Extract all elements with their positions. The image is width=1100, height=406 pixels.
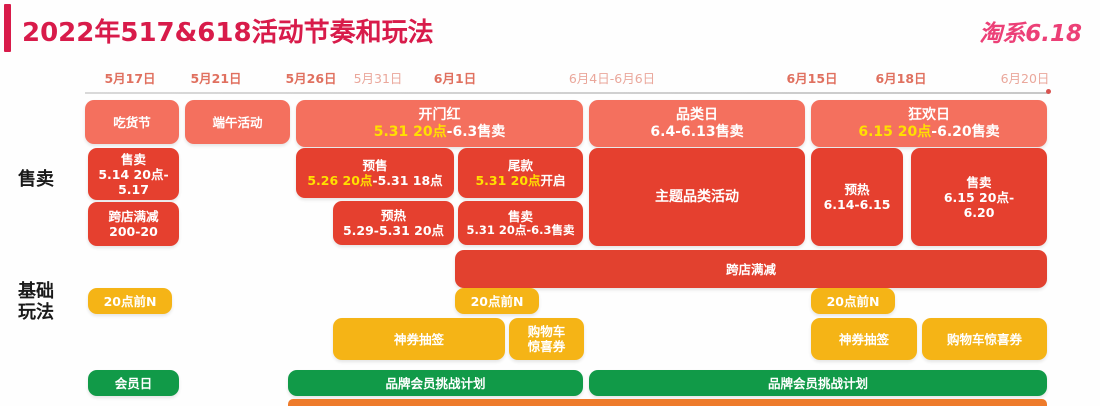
block-sublabel: 6.4-6.13售卖 <box>650 124 743 141</box>
block-label: 品牌会员挑战计划 <box>385 376 485 391</box>
block-sublabel: 6.15 20点-6.20售卖 <box>858 124 999 141</box>
date-label-2: 5月26日 <box>285 68 336 87</box>
block-sublabel: 惊喜券 <box>528 339 566 354</box>
block-sublabel: 200-20 <box>109 224 158 239</box>
block-member-day[interactable]: 会员日 <box>88 370 179 396</box>
block-sublabel: 5.29-5.31 20点 <box>343 223 444 238</box>
block-sublabel-2: 6.20 <box>964 205 995 220</box>
block-label: 预热 <box>381 208 406 223</box>
block-label: 神券抽签 <box>394 332 444 347</box>
date-label-8: 6月20日 <box>1001 68 1050 87</box>
block-kuadian-full[interactable]: 跨店满减 <box>455 250 1047 288</box>
block-label: 端午活动 <box>212 115 262 130</box>
block-sell-531[interactable]: 售卖 5.31 20点-6.3售卖 <box>458 201 583 245</box>
block-highlight: 6.15 20点 <box>858 124 931 140</box>
badge-before20-mid[interactable]: 20点前N <box>455 288 539 314</box>
block-highlight: 5.31 20点 <box>475 173 540 188</box>
block-pinleiri[interactable]: 品类日 6.4-6.13售卖 <box>589 100 805 147</box>
timeline-axis <box>85 92 1048 94</box>
block-preheat-529[interactable]: 预热 5.29-5.31 20点 <box>333 201 454 245</box>
block-label: 预热 <box>844 182 869 197</box>
block-label: 狂欢日 <box>908 107 950 124</box>
block-kaimenhong[interactable]: 开门红 5.31 20点-6.3售卖 <box>296 100 583 147</box>
brand-logo: 淘系6.18 <box>979 14 1082 48</box>
date-label-5: 6月4日-6月6日 <box>569 68 655 87</box>
block-label: 尾款 <box>508 158 533 173</box>
row-label-basic: 基础 玩法 <box>18 282 54 323</box>
block-sublabel: 6.14-6.15 <box>824 197 891 212</box>
block-sublabel: 5.31 20点开启 <box>475 173 565 188</box>
block-subtext: -5.31 18点 <box>372 173 442 188</box>
timeline-infographic: 2022年517&618活动节奏和玩法 淘系6.18 5月17日 5月21日 5… <box>0 0 1100 406</box>
date-label-1: 5月21日 <box>190 68 241 87</box>
badge-before20-right[interactable]: 20点前N <box>811 288 895 314</box>
block-label: 品类日 <box>676 107 718 124</box>
timeline-end-dot <box>1046 89 1051 94</box>
block-subtext: 开启 <box>541 173 566 188</box>
block-brand-member-challenge-1[interactable]: 品牌会员挑战计划 <box>288 370 583 396</box>
block-label: 会员日 <box>115 376 153 391</box>
date-label-0: 5月17日 <box>104 68 155 87</box>
block-cart-coupon-right[interactable]: 购物车惊喜券 <box>922 318 1047 360</box>
block-label: 预售 <box>362 158 387 173</box>
block-label: 售卖 <box>508 209 533 224</box>
block-shenquan-right[interactable]: 神券抽签 <box>811 318 917 360</box>
block-shenquan-mid[interactable]: 神券抽签 <box>333 318 505 360</box>
badge-before20-left[interactable]: 20点前N <box>88 288 172 314</box>
block-subtext: -6.20售卖 <box>931 124 999 140</box>
block-kuanghuanri[interactable]: 狂欢日 6.15 20点-6.20售卖 <box>811 100 1047 147</box>
block-preheat-614[interactable]: 预热 6.14-6.15 <box>811 148 903 246</box>
block-weikuan[interactable]: 尾款 5.31 20点开启 <box>458 148 583 198</box>
block-label: 开门红 <box>419 107 461 124</box>
block-label: 吃货节 <box>113 115 151 130</box>
block-label: 跨店满减 <box>108 209 158 224</box>
block-sublabel: 5.31 20点-6.3售卖 <box>466 224 574 238</box>
block-theme-pinlei[interactable]: 主题品类活动 <box>589 148 805 246</box>
block-subtext: -6.3售卖 <box>447 124 506 140</box>
block-sublabel: 5.31 20点-6.3售卖 <box>374 124 506 141</box>
block-sublabel-2: 5.17 <box>118 182 149 197</box>
date-label-3: 5月31日 <box>354 68 403 87</box>
block-sell-514[interactable]: 售卖 5.14 20点- 5.17 <box>88 148 179 200</box>
block-label: 购物车 <box>528 324 566 339</box>
block-cart-coupon-mid[interactable]: 购物车 惊喜券 <box>509 318 584 360</box>
title-accent-bar <box>4 4 11 52</box>
block-label: 品牌会员挑战计划 <box>768 376 868 391</box>
block-label: 售卖 <box>121 152 146 167</box>
row-label-sell: 售卖 <box>18 170 54 191</box>
block-chihuo-festival[interactable]: 吃货节 <box>85 100 179 144</box>
page-title: 2022年517&618活动节奏和玩法 <box>22 12 434 49</box>
block-label: 神券抽签 <box>839 332 889 347</box>
block-orange-strip[interactable] <box>288 399 1047 406</box>
block-sublabel: 5.14 20点- <box>98 167 168 182</box>
block-label: 购物车惊喜券 <box>947 332 1022 347</box>
badge-label: 20点前N <box>471 294 524 309</box>
block-presale[interactable]: 预售 5.26 20点-5.31 18点 <box>296 148 454 198</box>
block-label: 跨店满减 <box>726 262 776 277</box>
block-sublabel: 6.15 20点- <box>944 190 1014 205</box>
date-label-6: 6月15日 <box>786 68 837 87</box>
block-brand-member-challenge-2[interactable]: 品牌会员挑战计划 <box>589 370 1047 396</box>
block-kuadian-200[interactable]: 跨店满减 200-20 <box>88 202 179 246</box>
block-sell-615[interactable]: 售卖 6.15 20点- 6.20 <box>911 148 1047 246</box>
block-highlight: 5.31 20点 <box>374 124 447 140</box>
date-label-4: 6月1日 <box>434 68 476 87</box>
block-sublabel: 5.26 20点-5.31 18点 <box>307 173 442 188</box>
badge-label: 20点前N <box>827 294 880 309</box>
badge-label: 20点前N <box>104 294 157 309</box>
block-highlight: 5.26 20点 <box>307 173 372 188</box>
block-duanwu-activity[interactable]: 端午活动 <box>185 100 290 144</box>
block-label: 主题品类活动 <box>655 189 739 206</box>
date-label-7: 6月18日 <box>875 68 926 87</box>
block-label: 售卖 <box>966 175 991 190</box>
